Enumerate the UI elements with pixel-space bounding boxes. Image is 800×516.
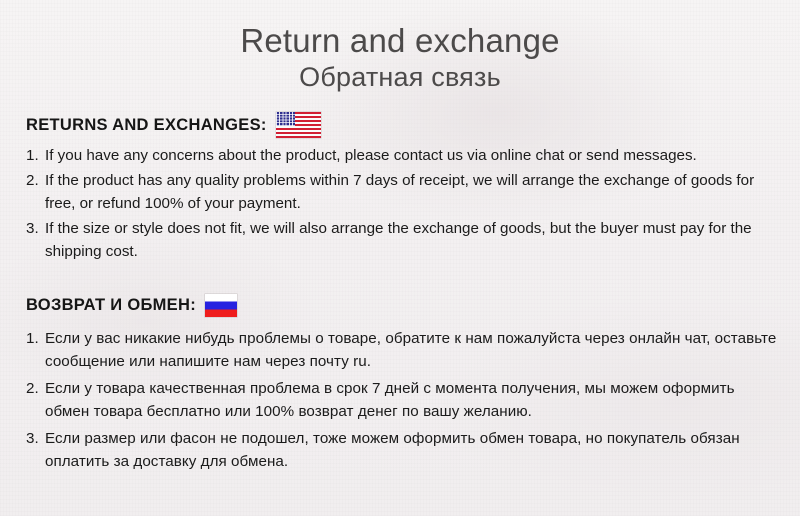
page-title-english: Return and exchange — [0, 22, 800, 60]
us-flag-icon — [276, 112, 321, 138]
section-header-label-russian: ВОЗВРАТ И ОБМЕН: — [26, 296, 196, 315]
list-item: 1. Если у вас никакие нибудь проблемы о … — [26, 327, 778, 374]
page-title-russian: Обратная связь — [0, 61, 800, 93]
section-english: RETURNS AND EXCHANGES: 1. If you have an… — [0, 111, 800, 264]
page-title: Return and exchange Обратная связь — [0, 0, 800, 93]
return-exchange-policy: Return and exchange Обратная связь RETUR… — [0, 0, 800, 474]
policy-list-english: 1. If you have any concerns about the pr… — [26, 144, 778, 264]
list-item: 3. If the size or style does not fit, we… — [26, 217, 778, 264]
list-item-number: 1. — [26, 327, 45, 351]
list-item-number: 2. — [26, 377, 45, 401]
list-item-number: 1. — [26, 144, 45, 168]
list-item: 2. Если у товара качественная проблема в… — [26, 377, 778, 424]
list-item-text: If the product has any quality problems … — [45, 169, 778, 216]
list-item-number: 3. — [26, 427, 45, 451]
list-item-text: If the size or style does not fit, we wi… — [45, 217, 778, 264]
list-item: 1. If you have any concerns about the pr… — [26, 144, 778, 168]
list-item: 3. Если размер или фасон не подошел, тож… — [26, 427, 778, 474]
list-item-number: 2. — [26, 169, 45, 193]
list-item-text: Если размер или фасон не подошел, тоже м… — [45, 427, 778, 474]
section-header-russian: ВОЗВРАТ И ОБМЕН: — [26, 292, 778, 320]
policy-list-russian: 1. Если у вас никакие нибудь проблемы о … — [26, 327, 778, 474]
section-header-english: RETURNS AND EXCHANGES: — [26, 111, 778, 139]
list-item-text: Если у вас никакие нибудь проблемы о тов… — [45, 327, 778, 374]
russia-flag-icon — [205, 294, 237, 317]
us-flag-canton-icon — [276, 112, 295, 126]
section-russian: ВОЗВРАТ И ОБМЕН: 1. Если у вас никакие н… — [0, 292, 800, 474]
list-item-text: If you have any concerns about the produ… — [45, 144, 778, 168]
section-header-label-english: RETURNS AND EXCHANGES: — [26, 116, 267, 135]
list-item-number: 3. — [26, 217, 45, 241]
list-item-text: Если у товара качественная проблема в ср… — [45, 377, 778, 424]
list-item: 2. If the product has any quality proble… — [26, 169, 778, 216]
